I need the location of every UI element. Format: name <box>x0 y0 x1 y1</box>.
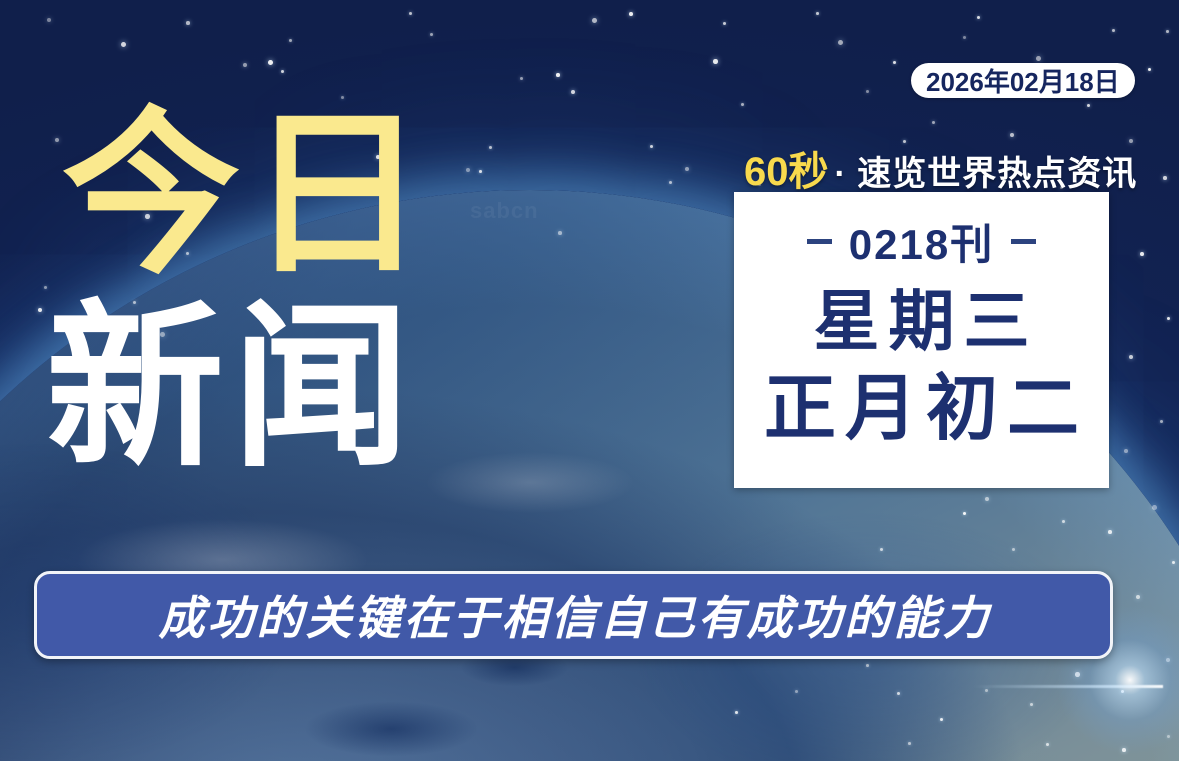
watermark-text: sabcn <box>470 198 539 224</box>
poster-canvas: sabcn 今日 新闻 2026年02月18日 60秒 · 速览世界热点资讯 0… <box>0 0 1179 761</box>
lens-flare-streak <box>973 685 1163 688</box>
tagline-duration: 60秒 <box>744 139 829 197</box>
title-line-today: 今日 <box>62 98 434 291</box>
poster-title: 今日 新闻 <box>62 98 434 484</box>
dash-left-icon <box>807 239 832 244</box>
dash-right-icon <box>1011 239 1036 244</box>
lunar-date-label: 正月初二 <box>755 366 1088 452</box>
tagline: 60秒 · 速览世界热点资讯 <box>744 139 1137 197</box>
date-badge: 2026年02月18日 <box>911 63 1135 98</box>
issue-info-card: 0218刊 星期三 正月初二 <box>734 192 1109 488</box>
issue-number: 0218刊 <box>849 211 994 272</box>
issue-number-row: 0218刊 <box>807 211 1036 272</box>
tagline-description: · 速览世界热点资讯 <box>835 146 1138 195</box>
title-line-news: 新闻 <box>46 291 434 484</box>
quote-text: 成功的关键在于相信自己有成功的能力 <box>156 582 992 648</box>
quote-banner: 成功的关键在于相信自己有成功的能力 <box>34 571 1113 659</box>
weekday-label: 星期三 <box>805 282 1039 360</box>
